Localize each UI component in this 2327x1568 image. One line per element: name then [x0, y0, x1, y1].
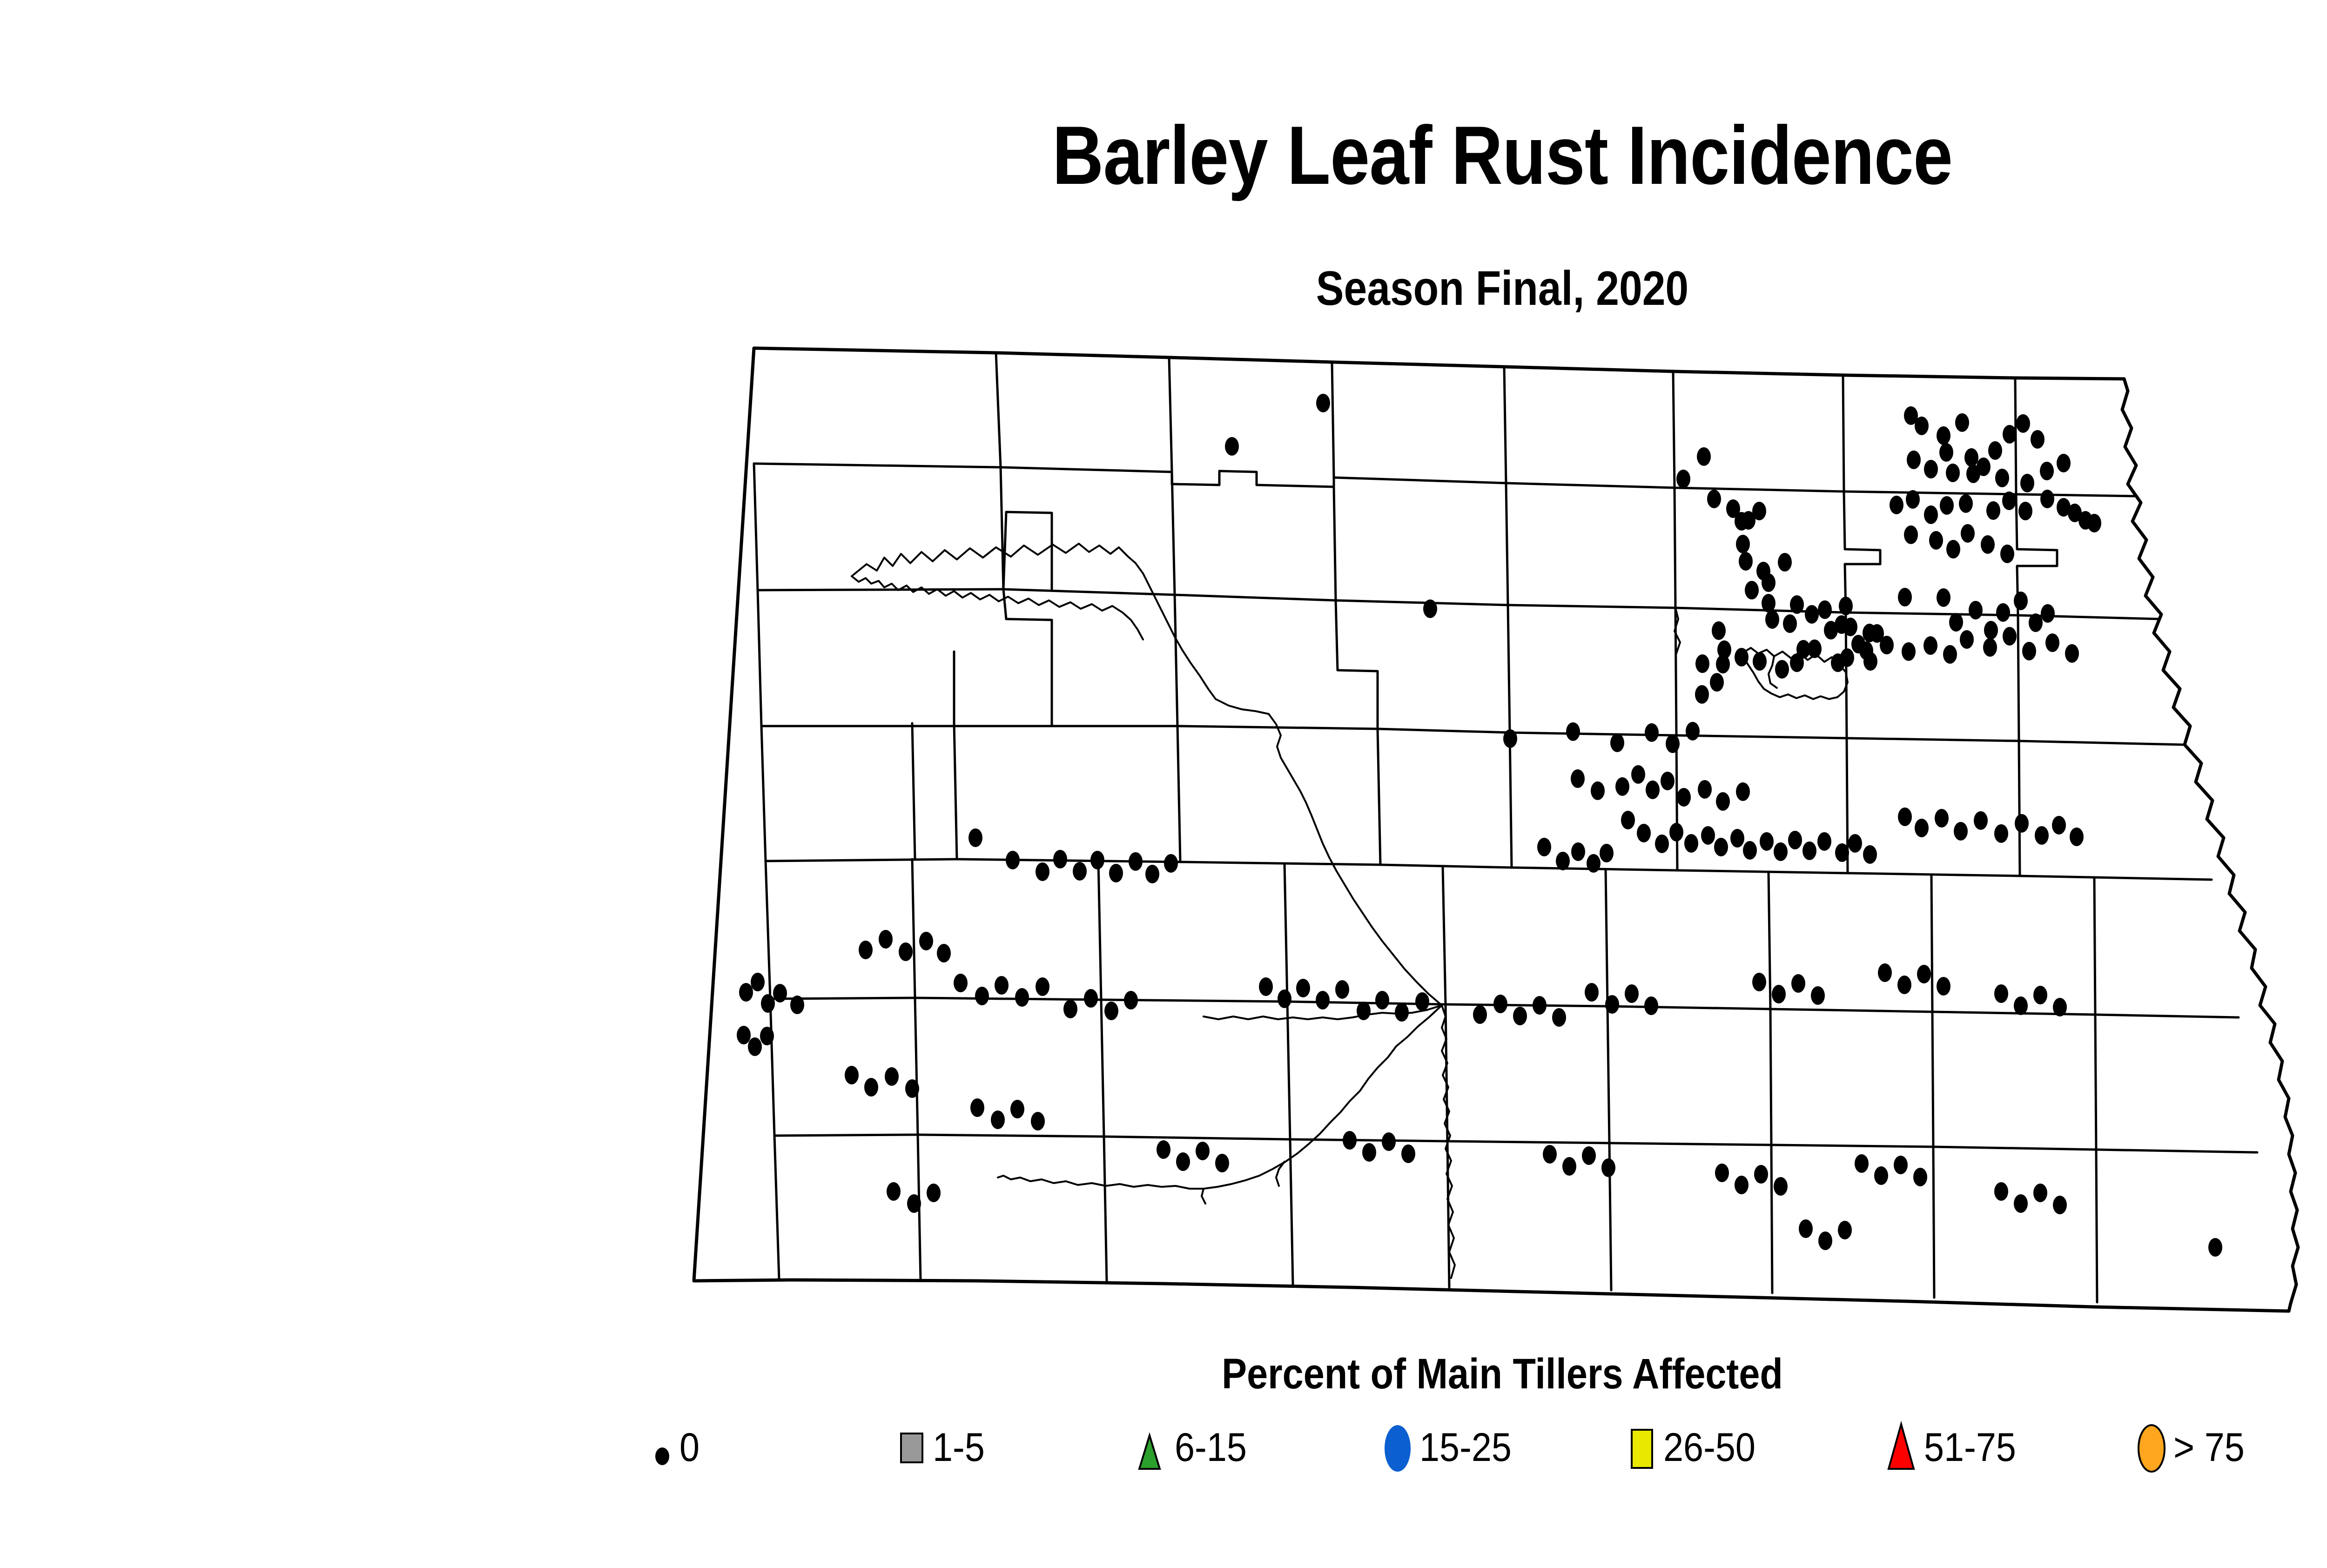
- data-point: [2057, 454, 2071, 472]
- data-point: [1610, 734, 1624, 752]
- data-point: [1924, 460, 1938, 478]
- data-point: [1591, 781, 1605, 800]
- data-point: [864, 1078, 878, 1097]
- legend-item-label: 51-75: [1924, 1425, 2016, 1471]
- data-point: [1736, 535, 1750, 553]
- data-point: [1835, 843, 1849, 862]
- data-point: [1799, 1219, 1813, 1238]
- data-point: [1661, 772, 1675, 790]
- data-point: [1382, 1132, 1396, 1151]
- data-point: [975, 987, 989, 1005]
- data-point: [1818, 1232, 1832, 1250]
- data-point: [1645, 723, 1659, 742]
- data-point: [1745, 581, 1759, 599]
- data-point: [1503, 729, 1517, 748]
- data-point: [905, 1079, 919, 1098]
- data-point: [1073, 862, 1087, 881]
- data-point: [1981, 535, 1995, 554]
- data-point: [1915, 819, 1929, 837]
- data-point: [1874, 1166, 1888, 1185]
- data-point: [1929, 531, 1943, 550]
- data-point: [995, 976, 1009, 995]
- data-point: [2070, 828, 2084, 846]
- data-point: [1848, 834, 1862, 853]
- data-point: [1937, 588, 1950, 607]
- incidence-data-points: [737, 394, 2222, 1257]
- data-point: [1898, 588, 1912, 606]
- data-point: [2029, 613, 2043, 632]
- data-point: [1983, 638, 1997, 657]
- data-point: [1666, 734, 1680, 753]
- data-point: [1063, 1000, 1077, 1018]
- blue-circle-icon: [1382, 1420, 1413, 1475]
- data-point: [1562, 1157, 1576, 1176]
- data-point: [1176, 1152, 1190, 1171]
- red-triangle-icon: [1885, 1420, 1917, 1475]
- legend-item-label: 1-5: [933, 1425, 985, 1471]
- data-point: [2002, 491, 2016, 510]
- data-point: [1695, 654, 1709, 673]
- legend-item-26-50[interactable]: 26-50: [1629, 1415, 1766, 1480]
- data-point: [1940, 496, 1954, 515]
- data-point: [1890, 496, 1903, 514]
- data-point: [899, 942, 913, 961]
- data-point: [845, 1066, 859, 1084]
- data-point: [1716, 655, 1730, 673]
- data-point: [1225, 437, 1239, 456]
- legend-item-label: 26-50: [1663, 1425, 1755, 1471]
- data-point: [1917, 965, 1931, 983]
- data-point: [1939, 443, 1953, 462]
- data-point: [1735, 648, 1749, 666]
- data-point: [1988, 441, 2002, 460]
- data-point: [2045, 633, 2059, 652]
- data-point: [1686, 722, 1700, 740]
- data-point: [2014, 592, 2028, 610]
- data-point: [1571, 769, 1585, 788]
- data-point: [2053, 998, 2067, 1016]
- data-point: [2031, 430, 2045, 449]
- data-point: [1752, 502, 1766, 520]
- data-point: [1343, 1131, 1357, 1150]
- data-point: [1493, 995, 1507, 1013]
- data-point: [2040, 490, 2054, 508]
- data-point: [1924, 505, 1938, 524]
- data-point: [1949, 613, 1963, 632]
- data-point: [2020, 474, 2034, 492]
- legend-item-1-5[interactable]: 1-5: [898, 1415, 990, 1480]
- data-point: [1904, 525, 1918, 544]
- data-point: [1898, 808, 1912, 826]
- data-point: [1582, 1146, 1596, 1165]
- data-point: [737, 1026, 751, 1044]
- data-point: [1316, 991, 1330, 1009]
- green-triangle-icon: [1136, 1420, 1168, 1475]
- data-point: [1739, 552, 1753, 571]
- data-point: [1145, 865, 1159, 883]
- data-point: [1774, 1177, 1788, 1196]
- data-point: [1129, 852, 1143, 871]
- data-point: [991, 1110, 1005, 1129]
- data-point: [1762, 594, 1776, 612]
- data-point: [1362, 1143, 1376, 1162]
- data-point: [1015, 988, 1029, 1007]
- data-point: [1840, 648, 1854, 667]
- data-point: [1897, 976, 1911, 994]
- data-point: [1053, 850, 1067, 868]
- data-point: [1935, 809, 1949, 828]
- data-point: [2035, 826, 2049, 845]
- data-point: [1788, 831, 1802, 849]
- data-point: [1735, 1176, 1749, 1194]
- data-point: [1669, 823, 1683, 841]
- orange-circle-icon: [2136, 1420, 2167, 1475]
- data-point: [1817, 832, 1831, 851]
- data-point: [1752, 973, 1766, 991]
- data-point: [1805, 605, 1819, 624]
- data-point: [1104, 1002, 1118, 1020]
- data-point: [1996, 603, 2010, 622]
- data-point: [1587, 854, 1601, 873]
- data-point: [1778, 553, 1792, 572]
- black-dot-icon: [652, 1427, 673, 1468]
- data-point: [2003, 627, 2017, 646]
- data-point: [2065, 644, 2079, 663]
- data-point: [1716, 792, 1730, 811]
- data-point: [1415, 992, 1429, 1011]
- legend-item-6-15[interactable]: 6-15: [1136, 1415, 1255, 1480]
- data-point: [1644, 996, 1658, 1015]
- legend-title: Percent of Main Tillers Affected: [180, 1350, 2327, 1399]
- data-point: [1736, 782, 1750, 801]
- data-point: [1006, 851, 1020, 869]
- data-point: [1585, 983, 1599, 1002]
- gray-square-icon: [898, 1420, 926, 1475]
- data-point: [1880, 636, 1894, 654]
- data-point: [790, 996, 804, 1014]
- data-point: [2041, 604, 2055, 623]
- legend-item-label: 0: [679, 1425, 699, 1471]
- data-point: [919, 932, 933, 950]
- data-point: [1995, 469, 2009, 487]
- data-point: [1863, 652, 1877, 671]
- data-point: [2016, 414, 2030, 433]
- data-point: [1157, 1140, 1170, 1159]
- data-point: [1902, 642, 1916, 661]
- data-point: [751, 973, 765, 991]
- data-point: [1631, 765, 1645, 784]
- data-point: [2015, 814, 2029, 833]
- data-point: [2014, 996, 2028, 1015]
- data-point: [1772, 985, 1786, 1003]
- data-point: [2000, 545, 2014, 563]
- data-point: [1774, 842, 1788, 861]
- data-point: [1791, 974, 1805, 993]
- data-point: [1760, 832, 1774, 851]
- data-point: [879, 930, 893, 949]
- data-point: [1943, 645, 1957, 664]
- data-point: [1855, 1154, 1869, 1173]
- data-point: [2014, 1194, 2028, 1213]
- data-point: [1923, 636, 1937, 655]
- data-point: [739, 983, 753, 1002]
- data-point: [1031, 1112, 1045, 1131]
- data-point: [1084, 989, 1098, 1008]
- data-point: [1753, 652, 1767, 671]
- data-point: [1401, 1144, 1415, 1163]
- data-point: [748, 1037, 762, 1056]
- data-point: [1994, 1182, 2008, 1201]
- data-point: [887, 1182, 901, 1201]
- data-point: [1811, 986, 1825, 1005]
- data-point: [1423, 599, 1437, 618]
- data-point: [1697, 447, 1711, 466]
- data-point: [1906, 490, 1920, 509]
- data-point: [1790, 595, 1804, 614]
- data-point: [1316, 394, 1330, 412]
- data-point: [1556, 852, 1570, 870]
- data-point: [1710, 673, 1724, 692]
- data-point: [2052, 816, 2066, 834]
- legend-item-label: > 75: [2173, 1425, 2245, 1471]
- legend-item-15-25[interactable]: 15-25: [1382, 1415, 1522, 1480]
- data-point: [1802, 841, 1816, 860]
- data-point: [1036, 862, 1049, 881]
- data-point: [1537, 838, 1551, 856]
- data-point: [1955, 413, 1969, 432]
- north-dakota-map: [0, 0, 2327, 1568]
- data-point: [2040, 462, 2054, 480]
- data-point: [1969, 601, 1983, 619]
- data-point: [1676, 470, 1690, 488]
- data-point: [1677, 788, 1691, 807]
- data-point: [1513, 1007, 1527, 1025]
- data-point: [1473, 1005, 1487, 1024]
- data-point: [1621, 811, 1635, 829]
- data-point: [1765, 610, 1779, 629]
- data-point: [1601, 1158, 1615, 1177]
- data-point: [1730, 829, 1744, 848]
- legend-item-label: 15-25: [1419, 1425, 1512, 1471]
- data-point: [1977, 458, 1991, 476]
- data-point: [2053, 1196, 2067, 1214]
- data-point: [1964, 448, 1978, 467]
- data-point: [1743, 841, 1757, 860]
- legend-item-0[interactable]: 0: [652, 1415, 702, 1480]
- data-point: [760, 1027, 774, 1045]
- data-point: [1838, 1221, 1852, 1239]
- data-point: [1375, 991, 1389, 1009]
- data-point: [1090, 851, 1104, 869]
- data-point: [1937, 426, 1950, 445]
- data-point: [1357, 1002, 1371, 1020]
- data-point: [859, 941, 873, 959]
- data-point: [1715, 1164, 1729, 1182]
- data-point: [1395, 1003, 1409, 1022]
- data-point: [954, 974, 968, 992]
- data-point: [1790, 653, 1804, 672]
- data-point: [1109, 864, 1123, 882]
- data-point: [1010, 1100, 1024, 1118]
- data-point: [2033, 986, 2047, 1004]
- data-point: [1533, 996, 1547, 1015]
- data-point: [1946, 464, 1960, 482]
- data-point: [1863, 845, 1877, 864]
- data-point: [761, 994, 775, 1013]
- legend-item-label: 6-15: [1175, 1425, 1247, 1471]
- data-point: [1894, 1156, 1908, 1174]
- legend: 01-56-1515-2526-5051-75> 75: [652, 1415, 2327, 1480]
- data-point: [970, 1098, 984, 1117]
- data-point: [1994, 984, 2008, 1003]
- data-point: [1701, 826, 1715, 845]
- data-point: [1036, 977, 1049, 996]
- data-point: [1954, 822, 1968, 841]
- data-point: [773, 984, 787, 1003]
- data-point: [1907, 451, 1921, 469]
- figure-canvas: Barley Leaf Rust Incidence Season Final,…: [0, 0, 2327, 1568]
- data-point: [2018, 502, 2032, 520]
- data-point: [1712, 621, 1726, 640]
- data-point: [1986, 501, 2000, 520]
- data-point: [1646, 781, 1660, 799]
- data-point: [1600, 844, 1614, 862]
- data-point: [1695, 685, 1709, 704]
- data-point: [1605, 995, 1619, 1014]
- data-point: [1296, 979, 1310, 997]
- data-point: [1335, 980, 1349, 999]
- legend-item-75[interactable]: > 75: [2136, 1415, 2253, 1480]
- data-point: [1566, 722, 1580, 741]
- data-point: [2087, 514, 2101, 532]
- data-point: [1915, 417, 1929, 435]
- data-point: [1974, 811, 1988, 830]
- data-point: [968, 828, 982, 847]
- data-point: [885, 1067, 899, 1086]
- data-point: [1839, 597, 1853, 615]
- data-point: [1625, 984, 1639, 1003]
- data-point: [927, 1184, 941, 1202]
- data-point: [1655, 834, 1669, 853]
- data-point: [1684, 834, 1698, 853]
- data-point: [1259, 977, 1273, 996]
- data-point: [907, 1194, 921, 1213]
- data-point: [1961, 524, 1975, 543]
- data-point: [1196, 1142, 1210, 1160]
- yellow-square-icon: [1629, 1420, 1657, 1475]
- data-point: [2208, 1238, 2222, 1257]
- data-point: [2022, 642, 2036, 660]
- data-point: [1714, 838, 1728, 856]
- data-point: [1843, 618, 1857, 636]
- data-point: [2003, 425, 2017, 444]
- data-point: [937, 944, 951, 962]
- data-point: [1878, 963, 1892, 982]
- data-point: [1783, 614, 1797, 633]
- data-point: [1278, 989, 1291, 1008]
- data-point: [1754, 1165, 1768, 1184]
- data-point: [1637, 824, 1651, 842]
- data-point: [1543, 1145, 1557, 1164]
- data-point: [1960, 630, 1974, 649]
- data-point: [1215, 1154, 1229, 1172]
- data-point: [1984, 621, 1998, 639]
- data-point: [1571, 842, 1585, 861]
- data-point: [1818, 600, 1832, 619]
- data-point: [1164, 854, 1178, 873]
- data-point: [1707, 490, 1721, 508]
- data-point: [1959, 494, 1973, 513]
- data-point: [1762, 573, 1776, 592]
- legend-item-51-75[interactable]: 51-75: [1885, 1415, 2026, 1480]
- data-point: [1698, 780, 1712, 799]
- data-point: [1615, 777, 1629, 796]
- data-point: [1124, 991, 1138, 1009]
- data-point: [1808, 639, 1822, 658]
- data-point: [1552, 1008, 1566, 1027]
- data-point: [1937, 977, 1950, 996]
- data-point: [1913, 1168, 1927, 1186]
- data-point: [1775, 660, 1789, 679]
- data-point: [1994, 824, 2008, 843]
- data-point: [2033, 1184, 2047, 1202]
- data-point: [1946, 540, 1960, 559]
